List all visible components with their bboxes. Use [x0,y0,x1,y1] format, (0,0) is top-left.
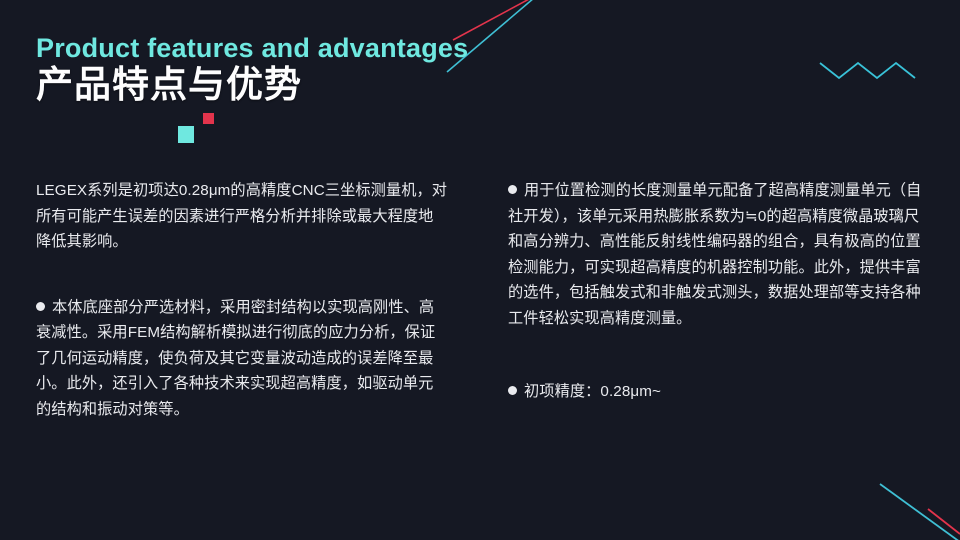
cyan-diagonal-line-bottom-icon [880,484,960,540]
bullet-dot-icon [36,302,45,311]
slide-header: Product features and advantages 产品特点与优势 [36,34,636,106]
paragraph-accuracy-spec: 初项精度：0.28μm~ [508,379,928,405]
slide-canvas: Product features and advantages 产品特点与优势 … [0,0,960,540]
cyan-zigzag-line-icon [820,63,915,78]
paragraph-accuracy-spec-text: 初项精度：0.28μm~ [524,383,661,400]
title-chinese: 产品特点与优势 [36,64,636,105]
title-english: Product features and advantages [36,34,636,62]
paragraph-intro: LEGEX系列是初项达0.28μm的高精度CNC三坐标测量机，对所有可能产生误差… [36,178,448,255]
paragraph-measurement-unit: 用于位置检测的长度测量单元配备了超高精度测量单元（自社开发），该单元采用热膨胀系… [508,178,928,331]
paragraph-base-structure: 本体底座部分严选材料，采用密封结构以实现高刚性、高衰减性。采用FEM结构解析模拟… [36,295,448,423]
left-text-column: LEGEX系列是初项达0.28μm的高精度CNC三坐标测量机，对所有可能产生误差… [36,178,448,422]
paragraph-measurement-unit-text: 用于位置检测的长度测量单元配备了超高精度测量单元（自社开发），该单元采用热膨胀系… [508,182,921,327]
red-square-accent [203,113,214,124]
cyan-square-accent [178,126,194,143]
bullet-dot-icon [508,386,517,395]
paragraph-base-structure-text: 本体底座部分严选材料，采用密封结构以实现高刚性、高衰减性。采用FEM结构解析模拟… [36,299,435,418]
right-text-column: 用于位置检测的长度测量单元配备了超高精度测量单元（自社开发），该单元采用热膨胀系… [508,178,928,405]
paragraph-intro-text: LEGEX系列是初项达0.28μm的高精度CNC三坐标测量机，对所有可能产生误差… [36,182,447,250]
bullet-dot-icon [508,185,517,194]
red-diagonal-line-bottom-icon [928,509,960,534]
